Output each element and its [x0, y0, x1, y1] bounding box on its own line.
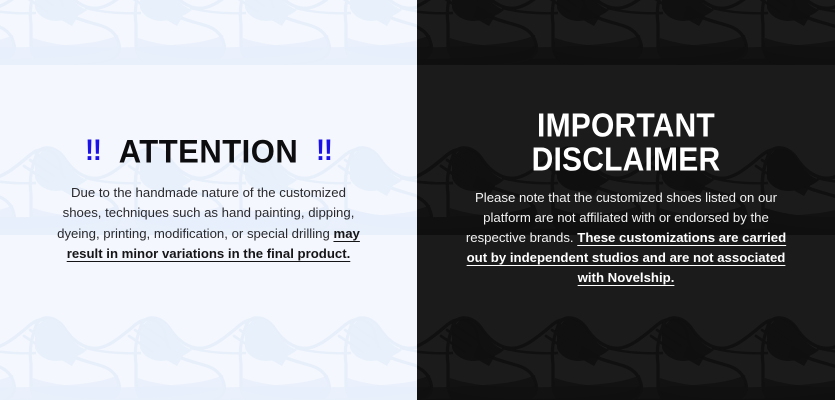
exclamation-icon-right: !! — [316, 136, 332, 166]
disclaimer-content: IMPORTANTDISCLAIMER Please note that the… — [417, 112, 835, 289]
attention-panel: !! ATTENTION !! Due to the handmade natu… — [0, 0, 417, 400]
attention-body: Due to the handmade nature of the custom… — [53, 183, 365, 265]
disclaimer-body: Please note that the customized shoes li… — [465, 188, 787, 288]
disclaimer-panel: IMPORTANTDISCLAIMER Please note that the… — [417, 0, 835, 400]
attention-body-plain: Due to the handmade nature of the custom… — [57, 185, 354, 241]
attention-content: !! ATTENTION !! Due to the handmade natu… — [0, 136, 417, 265]
attention-heading-row: !! ATTENTION !! — [18, 136, 399, 167]
exclamation-icon-left: !! — [85, 136, 101, 166]
disclaimer-title-line2: DISCLAIMER — [532, 142, 721, 178]
disclaimer-banner: !! ATTENTION !! Due to the handmade natu… — [0, 0, 835, 400]
attention-title: ATTENTION — [119, 135, 299, 168]
disclaimer-title-line1: IMPORTANT — [537, 107, 715, 143]
disclaimer-title: IMPORTANTDISCLAIMER — [435, 109, 817, 178]
